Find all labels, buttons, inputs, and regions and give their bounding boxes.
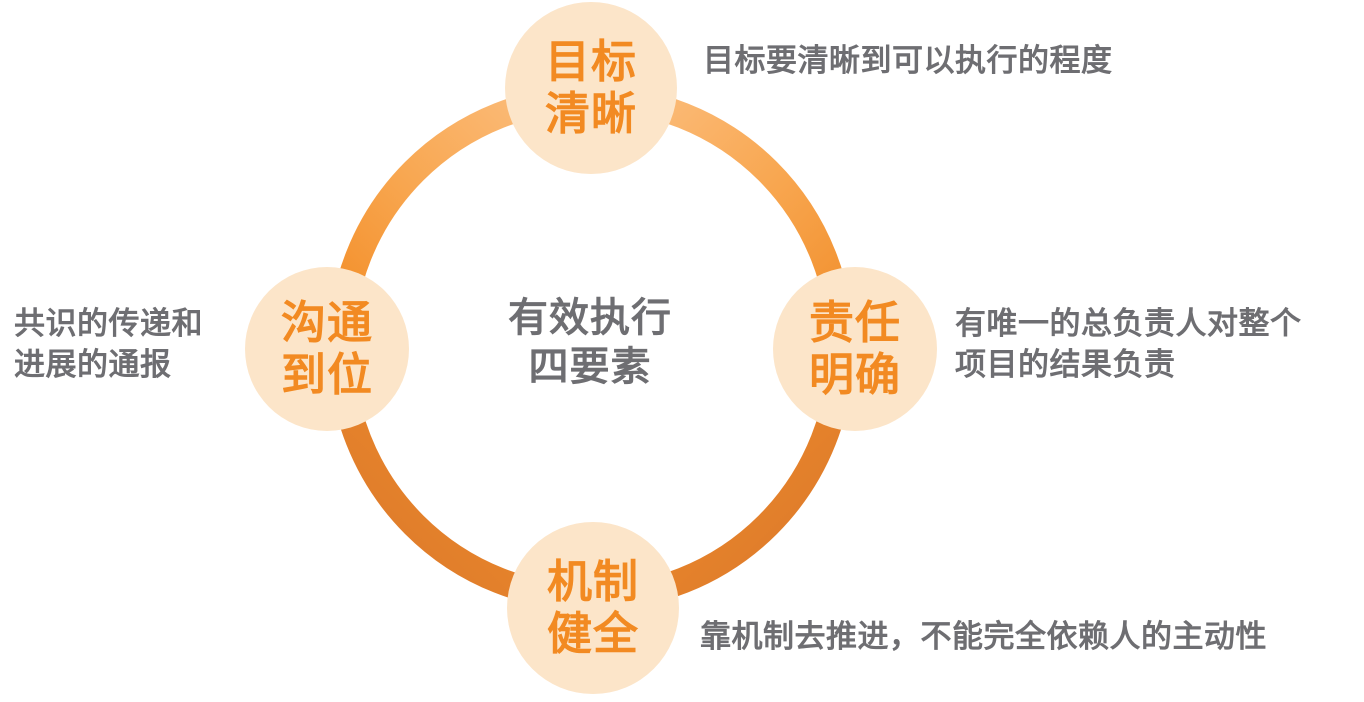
description-adequate-communication-line1: 共识的传递和: [14, 303, 203, 344]
node-clear-responsibility-line1: 责任: [809, 297, 901, 349]
diagram-center-title-line2: 四要素: [430, 343, 750, 392]
description-adequate-communication: 共识的传递和 进展的通报: [14, 303, 203, 385]
node-sound-mechanism-line2: 健全: [547, 608, 639, 660]
description-goal-clarity: 目标要清晰到可以执行的程度: [703, 40, 1113, 81]
node-goal-clarity-line1: 目标: [545, 36, 637, 88]
diagram-center-title: 有效执行 四要素: [430, 294, 750, 392]
description-sound-mechanism: 靠机制去推进，不能完全依赖人的主动性: [700, 616, 1267, 657]
node-clear-responsibility-line2: 明确: [809, 349, 901, 401]
node-clear-responsibility[interactable]: 责任 明确: [773, 267, 937, 431]
node-sound-mechanism[interactable]: 机制 健全: [507, 522, 679, 694]
description-adequate-communication-line2: 进展的通报: [14, 344, 203, 385]
diagram-center-title-line1: 有效执行: [430, 294, 750, 343]
node-adequate-communication-line2: 到位: [281, 349, 373, 401]
node-adequate-communication-line1: 沟通: [281, 297, 373, 349]
description-sound-mechanism-line1: 靠机制去推进，不能完全依赖人的主动性: [700, 616, 1267, 657]
node-goal-clarity[interactable]: 目标 清晰: [505, 2, 677, 174]
node-sound-mechanism-line1: 机制: [547, 556, 639, 608]
description-clear-responsibility-line1: 有唯一的总负责人对整个: [955, 303, 1302, 344]
description-goal-clarity-line1: 目标要清晰到可以执行的程度: [703, 40, 1113, 81]
node-goal-clarity-line2: 清晰: [545, 88, 637, 140]
cycle-diagram: 目标 清晰 责任 明确 机制 健全 沟通 到位 有效执行 四要素 目标要清晰到可…: [0, 0, 1364, 702]
node-adequate-communication[interactable]: 沟通 到位: [245, 267, 409, 431]
description-clear-responsibility-line2: 项目的结果负责: [955, 344, 1302, 385]
description-clear-responsibility: 有唯一的总负责人对整个 项目的结果负责: [955, 303, 1302, 385]
